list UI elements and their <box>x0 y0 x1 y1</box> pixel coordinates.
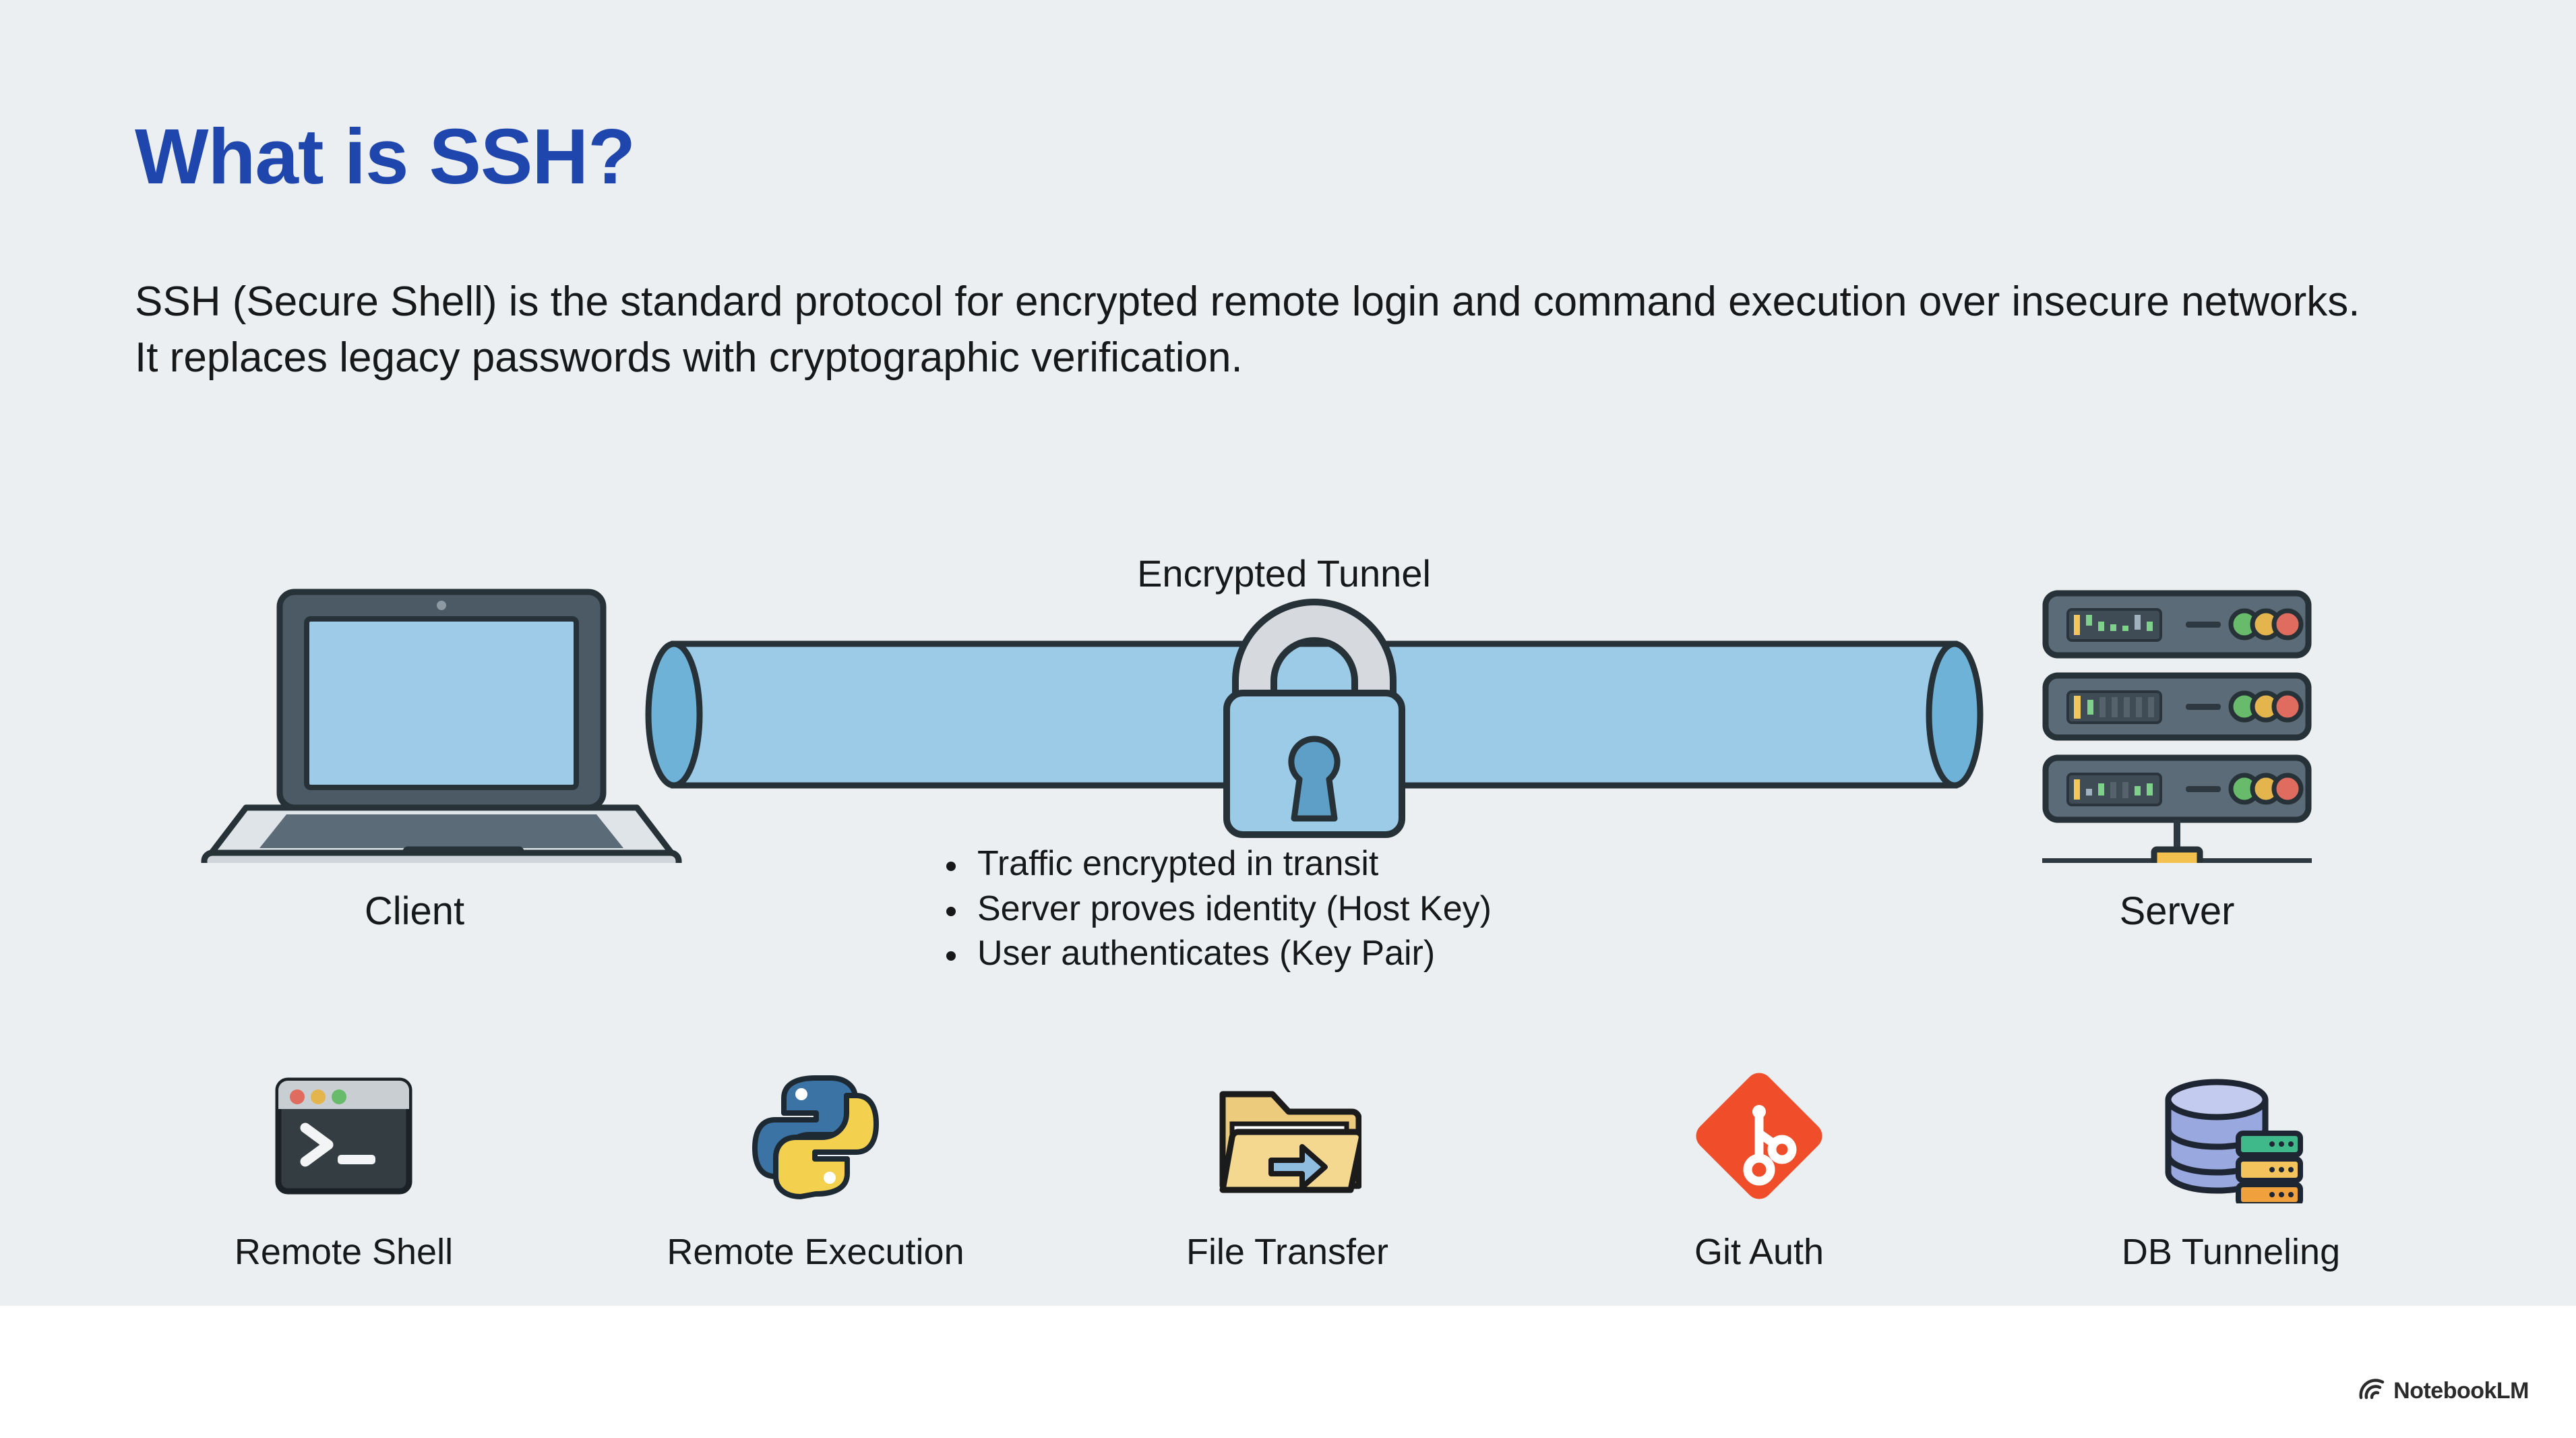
feature-label: File Transfer <box>1186 1231 1388 1273</box>
feature-label: Git Auth <box>1694 1231 1824 1273</box>
server-label: Server <box>2022 889 2332 934</box>
notebooklm-arc-icon <box>2358 1378 2385 1404</box>
feature-db-tunneling: DB Tunneling <box>2022 1058 2440 1273</box>
folder-arrow-icon <box>1213 1058 1361 1214</box>
padlock-icon <box>1227 602 1402 835</box>
terminal-icon <box>273 1058 415 1214</box>
feature-remote-shell: Remote Shell <box>135 1058 553 1273</box>
git-icon <box>1692 1058 1827 1214</box>
notebooklm-watermark: NotebookLM <box>2358 1378 2529 1404</box>
page-subtitle: SSH (Secure Shell) is the standard proto… <box>135 274 2379 386</box>
feature-label: Remote Execution <box>667 1231 964 1273</box>
page-title: What is SSH? <box>135 116 635 198</box>
list-item: User authenticates (Key Pair) <box>937 931 1492 976</box>
feature-label: DB Tunneling <box>2122 1231 2340 1273</box>
footer-band <box>0 1306 2576 1438</box>
client-laptop-icon <box>204 592 679 863</box>
list-item: Traffic encrypted in transit <box>937 841 1492 887</box>
feature-remote-execution: Remote Execution <box>607 1058 1024 1273</box>
tunnel-properties-list: Traffic encrypted in transit Server prov… <box>937 841 1492 976</box>
python-icon <box>748 1058 883 1214</box>
use-case-row: Remote Shell Remote Execution <box>135 1058 2440 1273</box>
ssh-tunnel-diagram <box>0 580 2576 863</box>
list-item: Server proves identity (Host Key) <box>937 887 1492 932</box>
feature-label: Remote Shell <box>235 1231 453 1273</box>
database-icon <box>2153 1058 2308 1214</box>
server-rack-icon <box>2042 593 2312 863</box>
notebooklm-label: NotebookLM <box>2393 1378 2529 1404</box>
slide-canvas: What is SSH? SSH (Secure Shell) is the s… <box>0 0 2576 1306</box>
feature-git-auth: Git Auth <box>1550 1058 1968 1273</box>
client-label: Client <box>222 889 607 934</box>
feature-file-transfer: File Transfer <box>1078 1058 1496 1273</box>
